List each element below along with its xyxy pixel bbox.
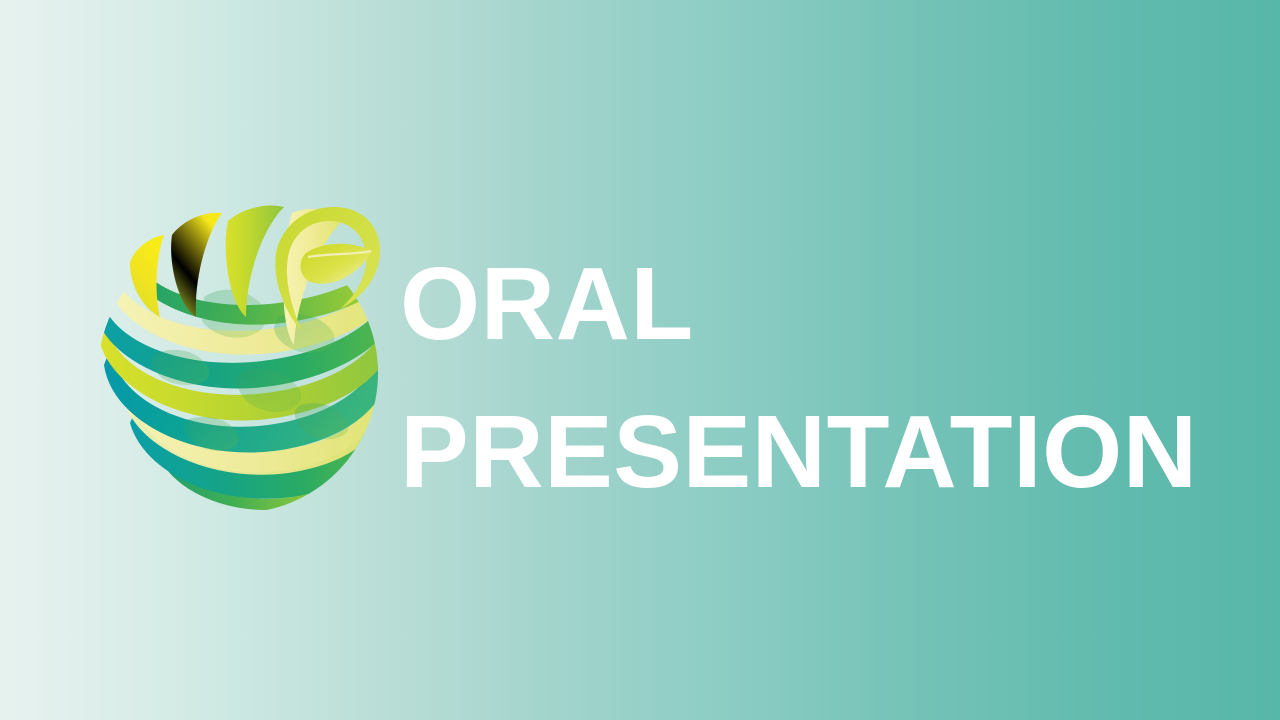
title-line-2: PRESENTATION [400, 378, 1200, 526]
slide-title: ORAL PRESENTATION [400, 230, 1200, 526]
globe-ribbon-leaf-logo [96, 205, 381, 515]
presentation-slide: ORAL PRESENTATION [0, 0, 1280, 720]
title-line-1: ORAL [400, 230, 1200, 378]
